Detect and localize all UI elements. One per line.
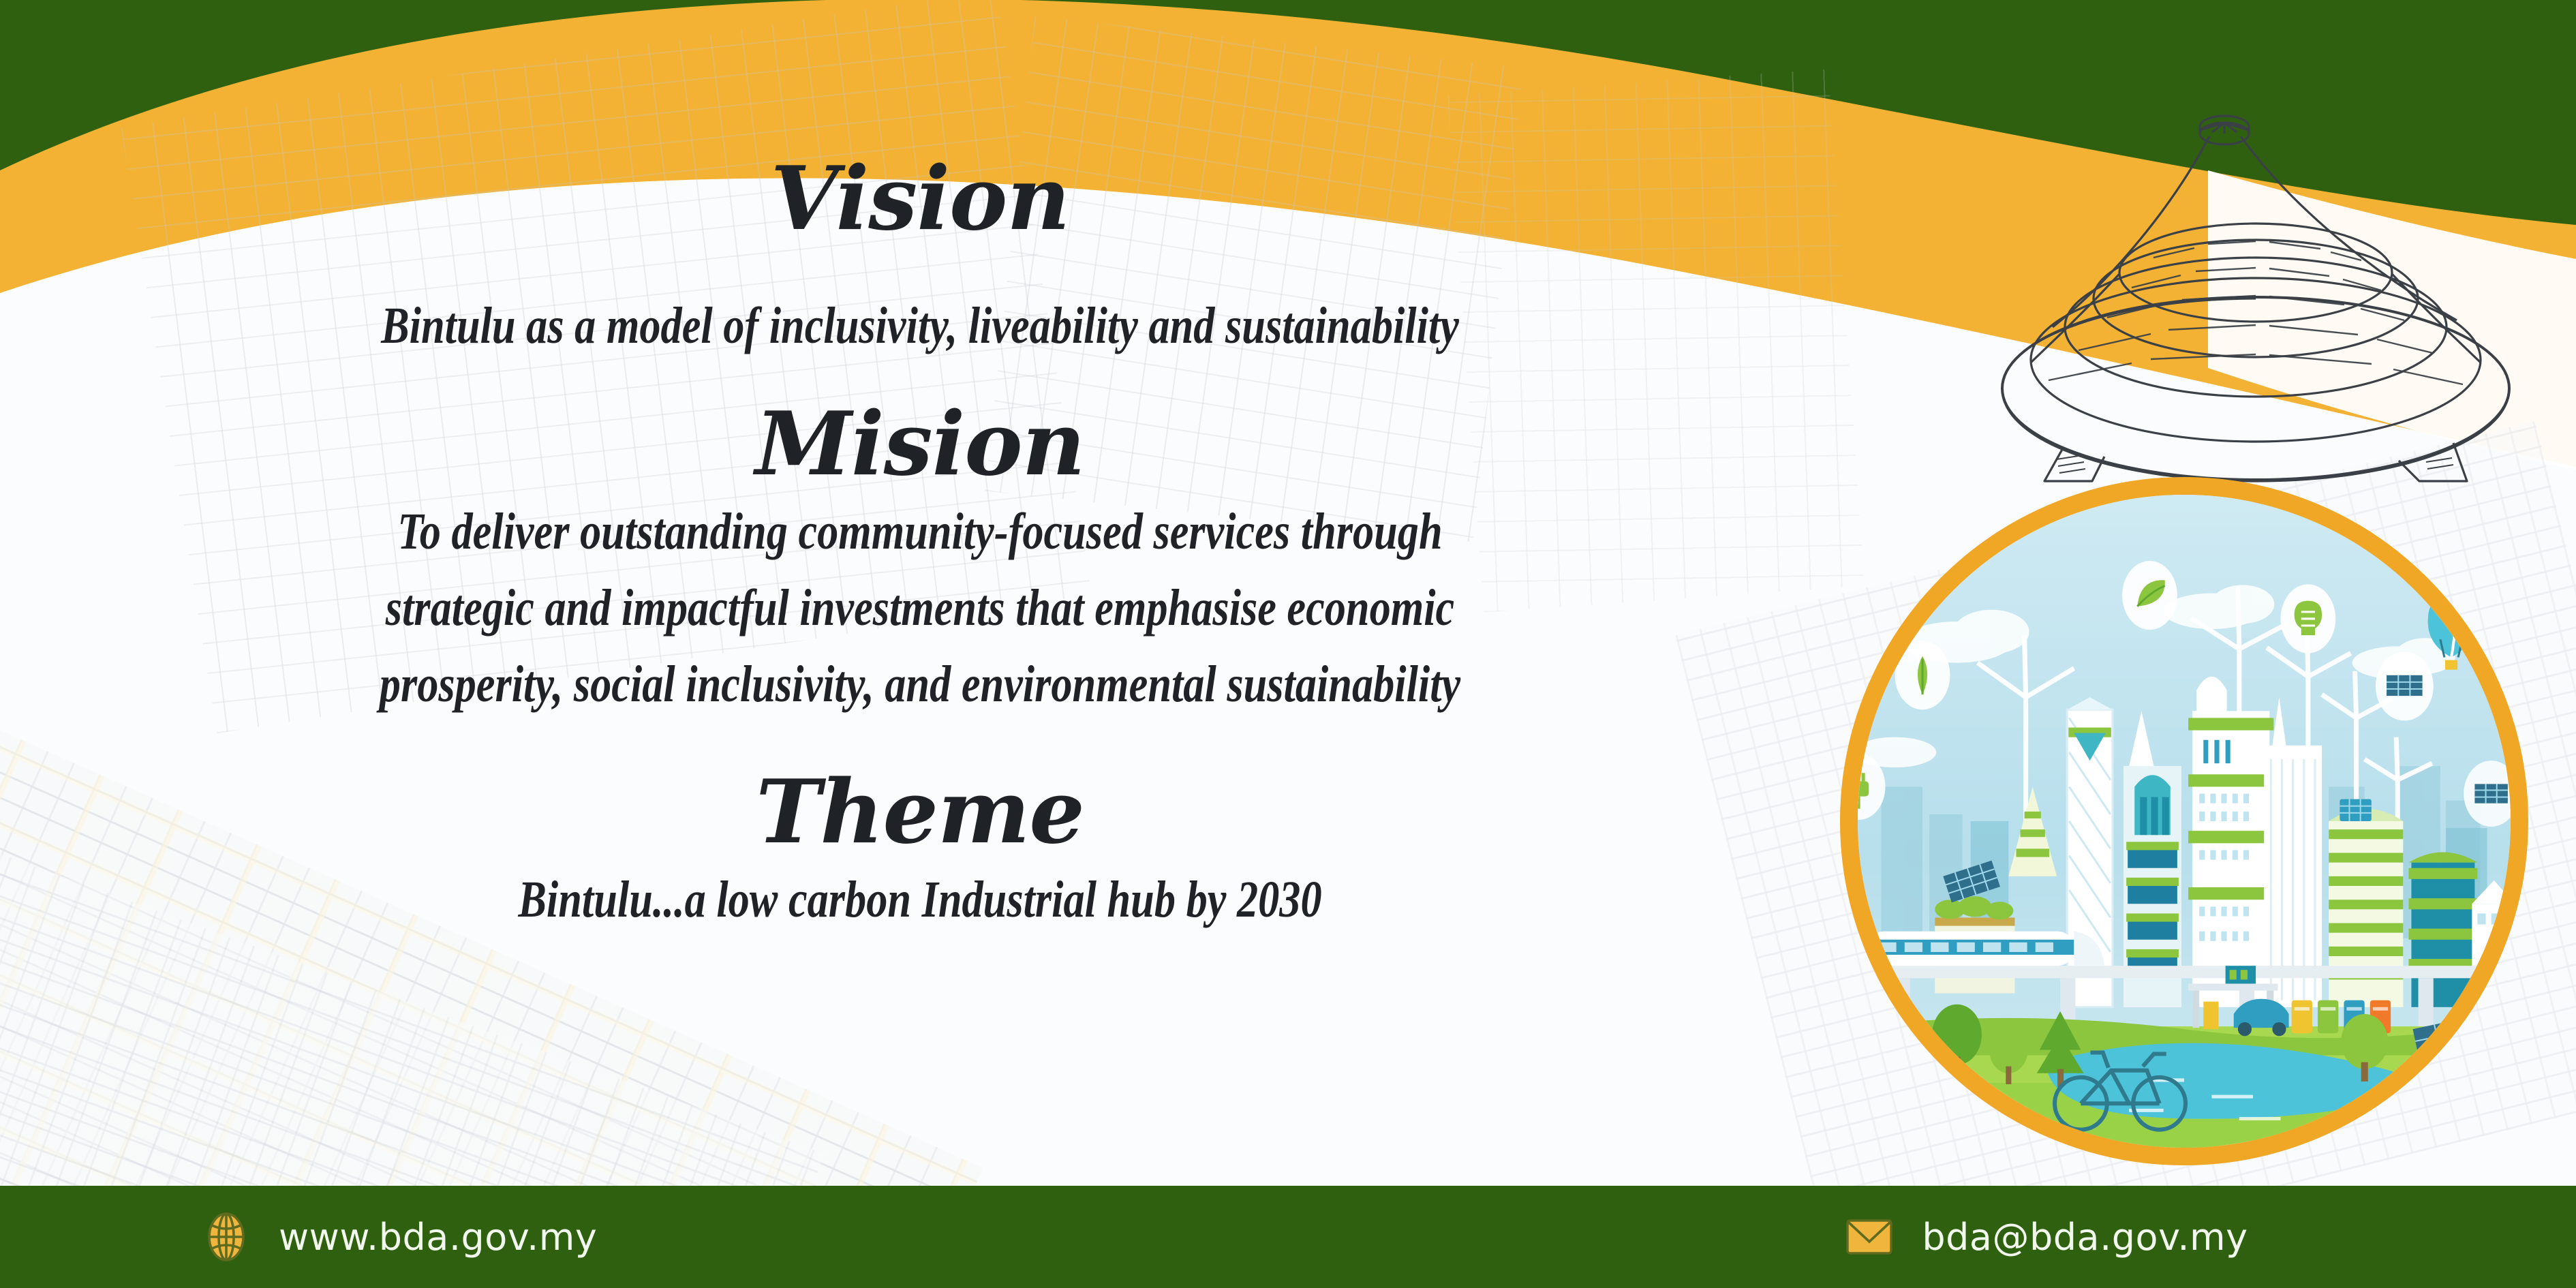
globe-icon (201, 1212, 251, 1262)
theme-heading: Theme (0, 769, 1840, 856)
theme-text-block: Bintulu...a low carbon Industrial hub by… (0, 874, 1840, 925)
mission-line-3: prosperity, social inclusivity, and envi… (166, 658, 1674, 710)
mission-line-1: To deliver outstanding community-focused… (166, 506, 1674, 557)
footer-email-item[interactable]: bda@bda.gov.my (1844, 1212, 2248, 1262)
eco-city-illustration-circle (1840, 477, 2528, 1165)
eco-city-illustration (1854, 491, 2515, 1152)
footer-website-label: www.bda.gov.my (279, 1216, 597, 1259)
theme-text: Bintulu...a low carbon Industrial hub by… (166, 874, 1674, 925)
vision-text-block: Bintulu as a model of inclusivity, livea… (0, 300, 1840, 352)
envelope-icon (1844, 1212, 1895, 1262)
footer-email-label: bda@bda.gov.my (1922, 1216, 2248, 1259)
mission-line-2: strategic and impactful investments that… (166, 582, 1674, 634)
text-content: Vision Bintulu as a model of inclusivity… (0, 0, 1840, 1186)
footer-website-item[interactable]: www.bda.gov.my (201, 1212, 597, 1262)
banner: Vision Bintulu as a model of inclusivity… (0, 0, 2576, 1288)
footer-bar: www.bda.gov.my bda@bda.gov.my (0, 1186, 2576, 1288)
conical-building-line-art (1949, 102, 2562, 484)
vision-heading: Vision (0, 155, 1840, 243)
mission-text-block: To deliver outstanding community-focused… (0, 506, 1840, 710)
vision-text: Bintulu as a model of inclusivity, livea… (166, 300, 1674, 352)
mission-heading: Mision (0, 401, 1840, 488)
